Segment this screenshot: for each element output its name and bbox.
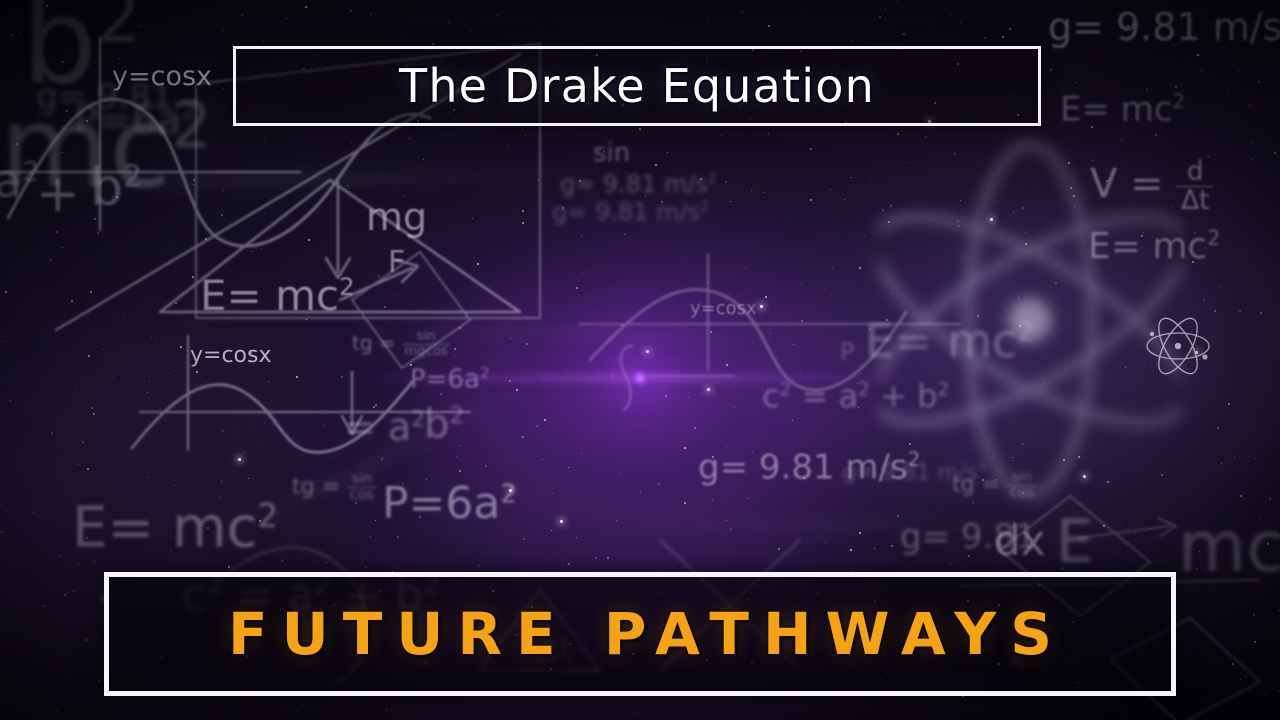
slide-canvas: b2y=cosxg= 9.81mc2P=6a2a2+b2mgFE= mc2y=c… bbox=[0, 0, 1280, 720]
title-frame: The Drake Equation bbox=[233, 46, 1041, 126]
banner-frame: FUTURE PATHWAYS bbox=[104, 572, 1176, 696]
banner-title: FUTURE PATHWAYS bbox=[214, 600, 1066, 668]
slide-title: The Drake Equation bbox=[399, 59, 875, 113]
